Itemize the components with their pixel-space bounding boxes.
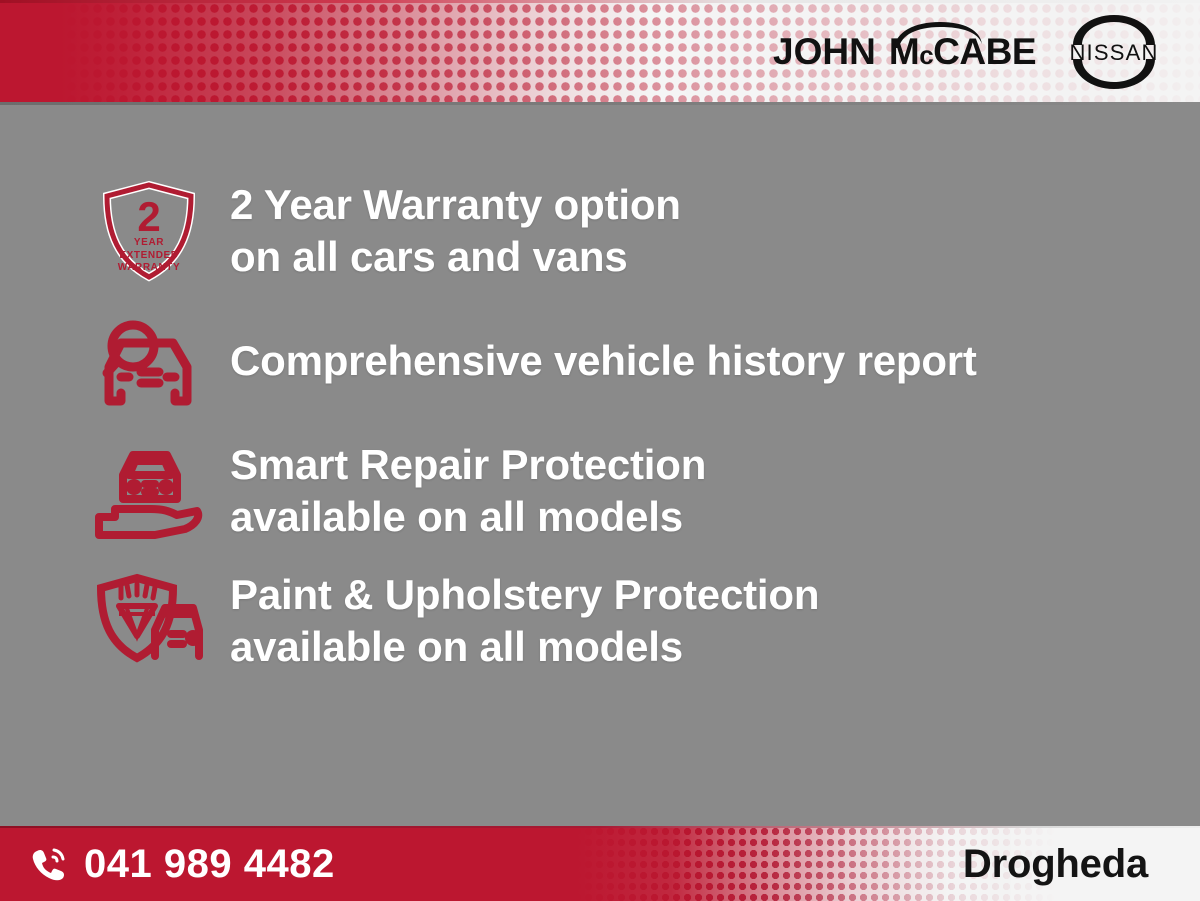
logo-row: JOHN M c CABE NISSAN <box>773 0 1170 103</box>
logo-word-mc-m: M <box>889 33 919 70</box>
svg-text:WARRANTY: WARRANTY <box>118 262 181 273</box>
phone-call-icon <box>28 844 68 884</box>
logo-word-john: JOHN <box>773 33 876 70</box>
phone-contact[interactable]: 041 989 4482 <box>28 826 335 901</box>
phone-number: 041 989 4482 <box>84 844 335 884</box>
feature-text-block: Smart Repair Protection available on all… <box>230 439 706 543</box>
logo-word-cabe: CABE <box>933 33 1036 70</box>
feature-item: Paint & Upholstery Protection available … <box>0 567 1200 675</box>
feature-line-2: on all cars and vans <box>230 231 681 283</box>
shield-2-year-warranty-icon: 2 YEAR EXTENDED WARRANTY <box>97 179 201 283</box>
logo-word-mc-c: c <box>919 42 933 68</box>
svg-text:NISSAN: NISSAN <box>1069 40 1158 65</box>
svg-text:YEAR: YEAR <box>134 237 164 248</box>
feature-text-block: Comprehensive vehicle history report <box>230 335 977 387</box>
car-magnifier-history-icon <box>95 315 203 407</box>
feature-line-1: 2 Year Warranty option <box>230 179 681 231</box>
feature-line-1: Comprehensive vehicle history report <box>230 335 977 387</box>
svg-text:EXTENDED: EXTENDED <box>119 250 178 261</box>
feature-icon-slot: 2 YEAR EXTENDED WARRANTY <box>90 179 208 283</box>
feature-line-2: available on all models <box>230 621 819 673</box>
feature-list: 2 YEAR EXTENDED WARRANTY 2 Year Warranty… <box>0 105 1200 675</box>
feature-line-1: Smart Repair Protection <box>230 439 706 491</box>
feature-line-2: available on all models <box>230 491 706 543</box>
banner-body: 2 YEAR EXTENDED WARRANTY 2 Year Warranty… <box>0 105 1200 826</box>
feature-item: Smart Repair Protection available on all… <box>0 437 1200 545</box>
dealer-location: Drogheda <box>963 826 1148 901</box>
banner-footer: 041 989 4482 Drogheda <box>0 826 1200 901</box>
john-mccabe-logo[interactable]: JOHN M c CABE <box>773 33 1036 70</box>
nissan-logo-icon[interactable]: NISSAN <box>1058 10 1170 94</box>
feature-icon-slot <box>90 441 208 541</box>
feature-icon-slot <box>90 315 208 407</box>
feature-icon-slot <box>90 572 208 670</box>
feature-text-block: 2 Year Warranty option on all cars and v… <box>230 179 681 283</box>
banner-header: JOHN M c CABE NISSAN <box>0 0 1200 105</box>
car-on-hand-protection-icon <box>93 441 205 541</box>
feature-item: Comprehensive vehicle history report <box>0 307 1200 415</box>
feature-item: 2 YEAR EXTENDED WARRANTY 2 Year Warranty… <box>0 177 1200 285</box>
feature-text-block: Paint & Upholstery Protection available … <box>230 569 819 673</box>
dealer-promo-banner: JOHN M c CABE NISSAN <box>0 0 1200 901</box>
badge-number: 2 <box>137 193 160 240</box>
shield-diamond-car-icon <box>93 572 205 670</box>
feature-line-1: Paint & Upholstery Protection <box>230 569 819 621</box>
